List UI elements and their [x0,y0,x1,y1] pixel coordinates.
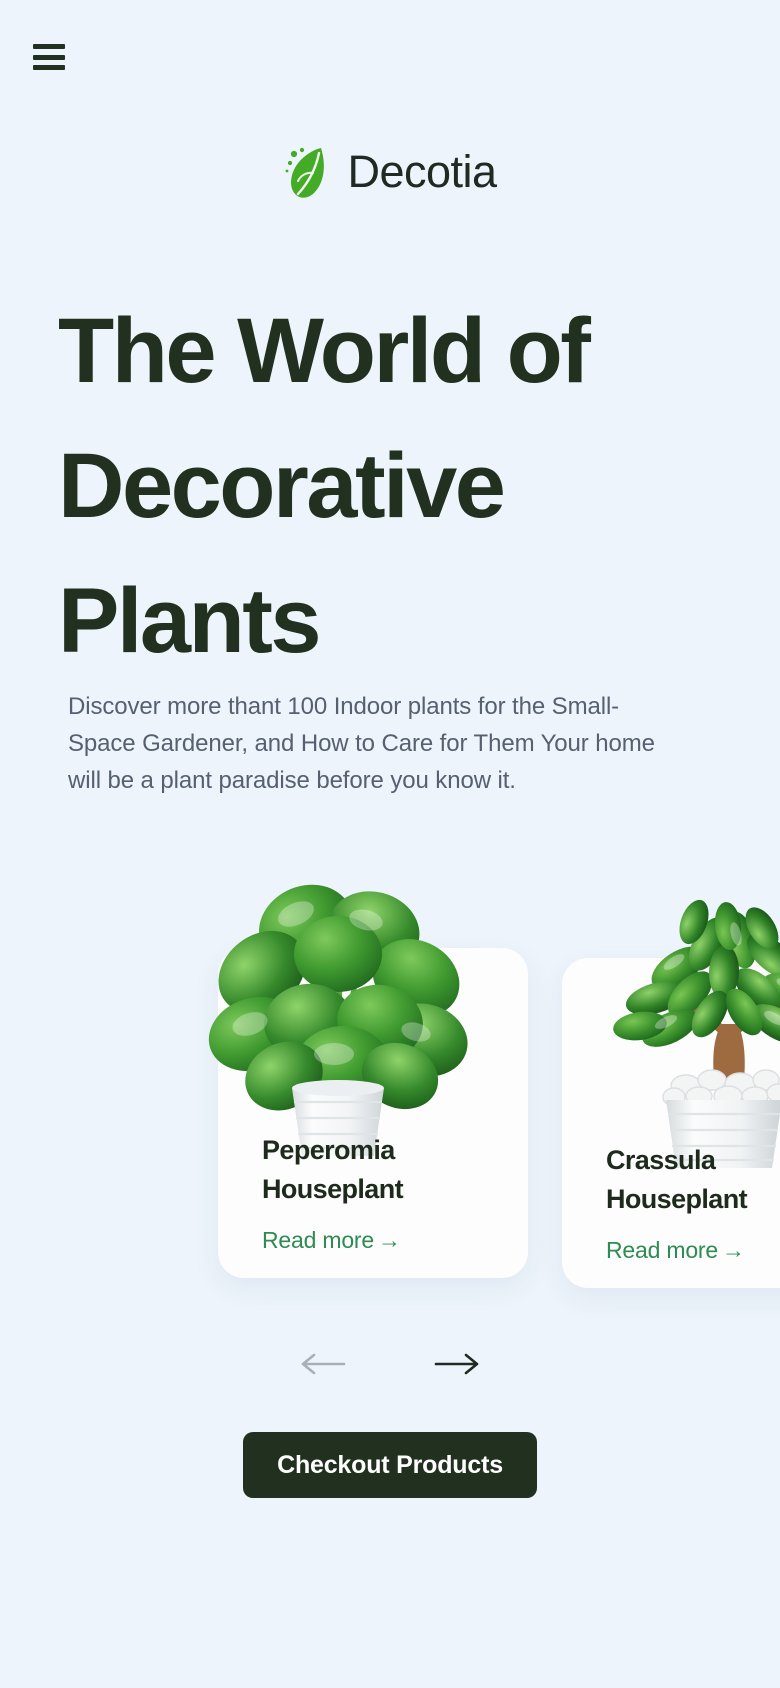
carousel-next-button[interactable] [429,1340,485,1388]
checkout-products-button[interactable]: Checkout Products [243,1432,537,1498]
hamburger-menu-icon[interactable] [33,44,65,70]
arrow-right-icon: → [722,1237,745,1263]
read-more-link[interactable]: Read more→ [606,1237,745,1264]
plant-carousel: Peperomia Houseplant Read more→ [0,840,780,1320]
hero-section: The World of Decorative Plants Discover … [58,284,738,689]
read-more-link[interactable]: Read more→ [262,1227,401,1254]
carousel-nav [0,1340,780,1388]
crassula-jade-plant-photo [582,848,780,1168]
page-title: The World of Decorative Plants [58,284,738,689]
read-more-label: Read more [262,1227,374,1253]
brand-logo-lockup[interactable]: Decotia [0,142,780,200]
brand-name: Decotia [347,149,496,194]
read-more-label: Read more [606,1237,718,1263]
plant-card[interactable]: Crassula Houseplant Read more→ [562,958,780,1288]
card-title: Crassula Houseplant [606,1141,780,1219]
arrow-right-icon [432,1352,482,1376]
cta-container: Checkout Products [0,1432,780,1498]
hamburger-bar [33,65,65,70]
arrow-left-icon [298,1352,348,1376]
card-title: Peperomia Houseplant [262,1131,484,1209]
leaf-logo-icon [283,142,333,200]
hamburger-bar [33,55,65,60]
card-body: Crassula Houseplant Read more→ [562,1141,780,1264]
card-body: Peperomia Houseplant Read more→ [218,1131,528,1254]
hamburger-bar [33,44,65,49]
hero-subtitle: Discover more thant 100 Indoor plants fo… [68,688,668,799]
peperomia-plant-photo [188,826,478,1156]
plant-card[interactable]: Peperomia Houseplant Read more→ [218,948,528,1278]
arrow-right-icon: → [378,1227,401,1253]
top-bar [0,0,780,120]
carousel-prev-button[interactable] [295,1340,351,1388]
